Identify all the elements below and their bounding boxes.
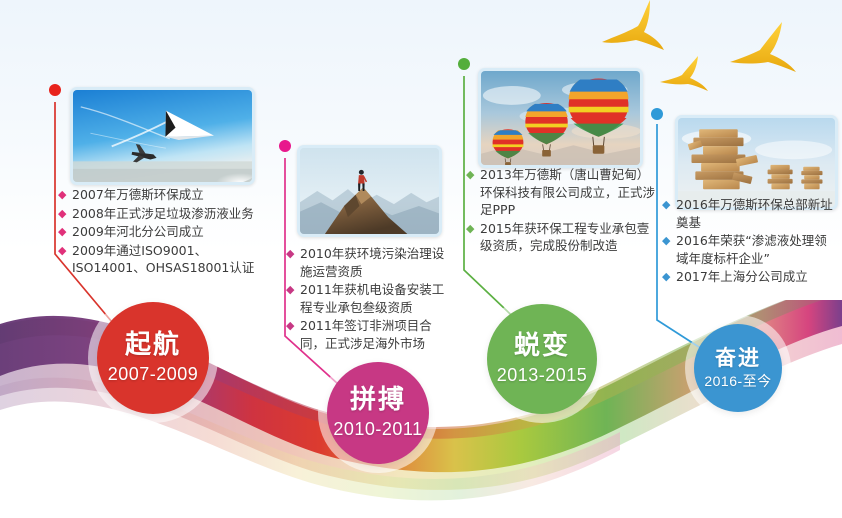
milestone-circle-qihang[interactable]: 起航 2007-2009: [97, 302, 209, 414]
bullet-text: 2008年正式涉足垃圾渗沥液业务: [72, 205, 280, 223]
milestone-bullets-tuibian: ◆2013年万德斯（唐山曹妃甸） 环保科技有限公司成立，正式涉 足PPP ◆20…: [466, 166, 656, 256]
milestone-title: 奋进: [715, 347, 761, 370]
diamond-bullet-icon: ◆: [58, 205, 69, 223]
bullet-text: 2017年上海分公司成立: [676, 268, 842, 286]
bullet-text: 2013年万德斯（唐山曹妃甸） 环保科技有限公司成立，正式涉 足PPP: [480, 166, 656, 219]
milestone-title: 拼搏: [350, 386, 406, 415]
list-item: ◆2016年万德斯环保总部新址 奠基: [662, 196, 842, 231]
bullet-text: 2011年签订非洲项目合 同，正式涉足海外市场: [300, 317, 451, 352]
milestone-bullets-fenjin: ◆2016年万德斯环保总部新址 奠基 ◆2016年荣获“渗滤液处理领 域年度标杆…: [662, 196, 842, 287]
list-item: ◆2013年万德斯（唐山曹妃甸） 环保科技有限公司成立，正式涉 足PPP: [466, 166, 656, 219]
list-item: ◆2017年上海分公司成立: [662, 268, 842, 286]
milestone-years: 2010-2011: [333, 420, 422, 440]
milestone-circle-pinbo[interactable]: 拼搏 2010-2011: [327, 362, 429, 464]
bullet-text: 2011年获机电设备安装工 程专业承包叁级资质: [300, 281, 451, 316]
milestone-bullets-qihang: ◆2007年万德斯环保成立 ◆2008年正式涉足垃圾渗沥液业务 ◆2009年河北…: [58, 186, 280, 278]
diamond-bullet-icon: ◆: [662, 268, 673, 286]
list-item: ◆2015年获环保工程专业承包壹 级资质，完成股份制改造: [466, 220, 656, 255]
list-item: ◆2007年万德斯环保成立: [58, 186, 280, 204]
bullet-text: 2016年荣获“渗滤液处理领 域年度标杆企业”: [676, 232, 842, 267]
mountain-climber-photo: [297, 145, 442, 237]
diamond-bullet-icon: ◆: [58, 223, 69, 241]
infographic-canvas: ◆2007年万德斯环保成立 ◆2008年正式涉足垃圾渗沥液业务 ◆2009年河北…: [0, 0, 842, 518]
diamond-bullet-icon: ◆: [286, 281, 297, 299]
list-item: ◆2009年河北分公司成立: [58, 223, 280, 241]
bullet-text: 2009年河北分公司成立: [72, 223, 280, 241]
list-item: ◆2008年正式涉足垃圾渗沥液业务: [58, 205, 280, 223]
diamond-bullet-icon: ◆: [466, 166, 477, 184]
list-item: ◆2010年获环境污染治理设 施运营资质: [286, 245, 451, 280]
diamond-bullet-icon: ◆: [662, 196, 673, 214]
list-item: ◆2011年获机电设备安装工 程专业承包叁级资质: [286, 281, 451, 316]
connector-dot-qihang: [49, 84, 61, 96]
connector-dot-pinbo: [279, 140, 291, 152]
bullet-text: 2015年获环保工程专业承包壹 级资质，完成股份制改造: [480, 220, 656, 255]
diamond-bullet-icon: ◆: [58, 242, 69, 260]
diamond-bullet-icon: ◆: [58, 186, 69, 204]
milestone-title: 起航: [125, 331, 181, 360]
diamond-bullet-icon: ◆: [286, 317, 297, 335]
connector-dot-fenjin: [651, 108, 663, 120]
list-item: ◆2016年荣获“渗滤液处理领 域年度标杆企业”: [662, 232, 842, 267]
bullet-text: 2007年万德斯环保成立: [72, 186, 280, 204]
bullet-text: 2009年通过ISO9001、 ISO14001、OHSAS18001认证: [72, 242, 280, 277]
bullet-text: 2010年获环境污染治理设 施运营资质: [300, 245, 451, 280]
bullet-text: 2016年万德斯环保总部新址 奠基: [676, 196, 842, 231]
paper-airplane-sky-photo: [70, 87, 255, 185]
list-item: ◆2009年通过ISO9001、 ISO14001、OHSAS18001认证: [58, 242, 280, 277]
diamond-bullet-icon: ◆: [286, 245, 297, 263]
milestone-title: 蜕变: [514, 332, 570, 361]
milestone-bullets-pinbo: ◆2010年获环境污染治理设 施运营资质 ◆2011年获机电设备安装工 程专业承…: [286, 245, 451, 353]
diamond-bullet-icon: ◆: [466, 220, 477, 238]
milestone-years: 2013-2015: [497, 366, 588, 386]
milestone-years: 2016-至今: [704, 374, 771, 389]
milestone-circle-tuibian[interactable]: 蜕变 2013-2015: [487, 304, 597, 414]
milestone-circle-fenjin[interactable]: 奋进 2016-至今: [694, 324, 782, 412]
hot-air-balloons-photo: [478, 68, 643, 168]
diamond-bullet-icon: ◆: [662, 232, 673, 250]
list-item: ◆2011年签订非洲项目合 同，正式涉足海外市场: [286, 317, 451, 352]
connector-dot-tuibian: [458, 58, 470, 70]
milestone-years: 2007-2009: [108, 365, 199, 385]
